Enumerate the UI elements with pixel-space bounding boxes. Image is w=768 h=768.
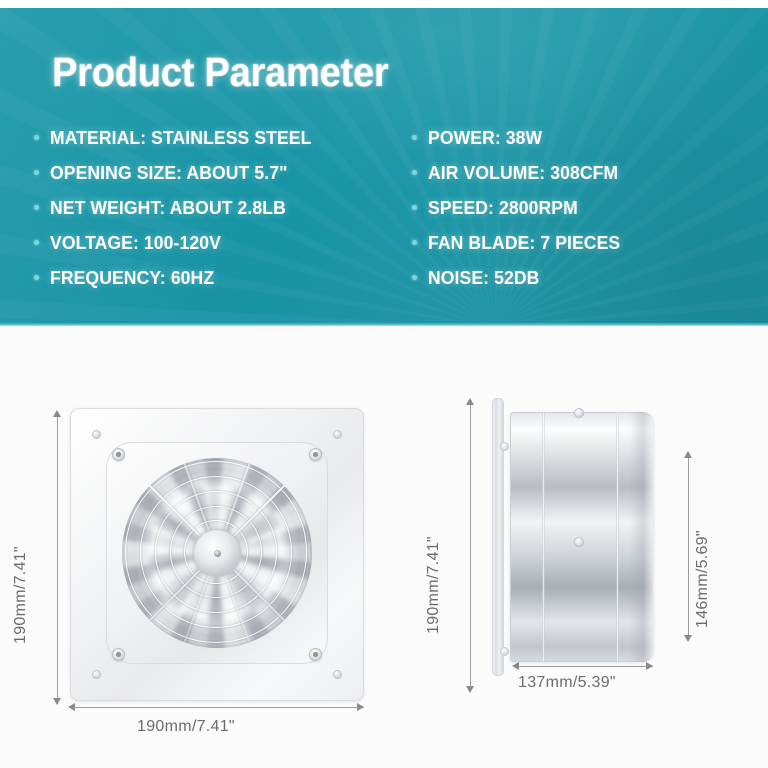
guard-mount-screw (112, 648, 125, 661)
duct-diameter-dimension-line (688, 456, 689, 641)
plate-screw-hole (333, 430, 342, 439)
fan-hub (193, 529, 241, 577)
spec-banner: Product Parameter MATERIAL: STAINLESS ST… (0, 8, 768, 325)
bullet-icon (34, 170, 39, 175)
bullet-icon (412, 205, 417, 210)
spec-item: MATERIAL: STAINLESS STEEL (34, 120, 414, 155)
spec-item: NET WEIGHT: ABOUT 2.8LB (34, 190, 414, 225)
spec-label: SPEED: 2800RPM (428, 197, 578, 219)
duct-diameter-arrow-top (684, 451, 692, 458)
spec-item: FAN BLADE: 7 PIECES (412, 225, 762, 260)
spec-item: VOLTAGE: 100-120V (34, 225, 414, 260)
front-width-dimension-line (72, 707, 364, 708)
spec-label: OPENING SIZE: ABOUT 5.7" (50, 162, 288, 184)
bullet-icon (412, 135, 417, 140)
side-height-dimension-line (470, 403, 471, 692)
spec-label: MATERIAL: STAINLESS STEEL (50, 127, 311, 149)
flange-tab (500, 647, 509, 656)
bullet-icon (34, 135, 39, 140)
housing-screw (574, 537, 584, 547)
side-fan-illustration (492, 412, 654, 662)
front-width-label: 190mm/7.41" (137, 718, 235, 736)
spec-item: NOISE: 52DB (412, 260, 762, 295)
spec-label: NET WEIGHT: ABOUT 2.8LB (50, 197, 286, 219)
cylinder-rear-cap (629, 412, 655, 662)
guard-mount-screw (112, 448, 125, 461)
spec-item: AIR VOLUME: 308CFM (412, 155, 762, 190)
plate-screw-hole (92, 430, 101, 439)
mounting-flange (492, 398, 504, 676)
fan-center-dot (214, 550, 221, 557)
cylinder-seam (542, 412, 545, 662)
duct-diameter-arrow-bottom (684, 635, 692, 642)
duct-diameter-label: 146mm/5.69" (694, 530, 712, 628)
depth-arrow-right (646, 662, 653, 670)
bullet-icon (412, 170, 417, 175)
depth-dimension-line (516, 666, 653, 667)
spec-column-right: POWER: 38W AIR VOLUME: 308CFM SPEED: 280… (412, 120, 762, 295)
spec-item: FREQUENCY: 60HZ (34, 260, 414, 295)
bullet-icon (412, 240, 417, 245)
side-height-arrow-top (466, 398, 474, 405)
housing-screw (574, 408, 584, 418)
spec-label: NOISE: 52DB (428, 267, 539, 289)
bullet-icon (412, 275, 417, 280)
guard-mount-screw (309, 648, 322, 661)
bullet-icon (34, 275, 39, 280)
side-height-label: 190mm/7.41" (425, 536, 443, 634)
cylinder-seam (616, 412, 619, 662)
spec-label: VOLTAGE: 100-120V (50, 232, 221, 254)
front-height-dimension-line (57, 415, 58, 704)
plate-screw-hole (333, 670, 342, 679)
spec-item: OPENING SIZE: ABOUT 5.7" (34, 155, 414, 190)
spec-label: FREQUENCY: 60HZ (50, 267, 214, 289)
spec-item: POWER: 38W (412, 120, 762, 155)
depth-arrow-left (512, 662, 519, 670)
fan-grille (122, 458, 312, 648)
spec-label: AIR VOLUME: 308CFM (428, 162, 618, 184)
flange-tab (500, 442, 509, 451)
plate-screw-hole (92, 670, 101, 679)
spec-label: POWER: 38W (428, 127, 542, 149)
product-diagram-area: 190mm/7.41" 190mm/7.41" (0, 326, 768, 768)
front-width-arrow-left (68, 703, 75, 711)
spec-column-left: MATERIAL: STAINLESS STEEL OPENING SIZE: … (34, 120, 414, 295)
front-fan-illustration (70, 408, 364, 701)
depth-label: 137mm/5.39" (518, 674, 616, 692)
product-parameter-page: Product Parameter MATERIAL: STAINLESS ST… (0, 0, 768, 768)
page-title: Product Parameter (52, 52, 388, 93)
spec-item: SPEED: 2800RPM (412, 190, 762, 225)
front-width-arrow-right (357, 703, 364, 711)
front-height-arrow-bottom (53, 698, 61, 705)
spec-label: FAN BLADE: 7 PIECES (428, 232, 620, 254)
side-height-arrow-bottom (466, 686, 474, 693)
front-height-arrow-top (53, 410, 61, 417)
top-white-strip (0, 0, 768, 8)
front-height-label: 190mm/7.41" (12, 546, 30, 644)
bullet-icon (34, 240, 39, 245)
bullet-icon (34, 205, 39, 210)
guard-mount-screw (309, 448, 322, 461)
